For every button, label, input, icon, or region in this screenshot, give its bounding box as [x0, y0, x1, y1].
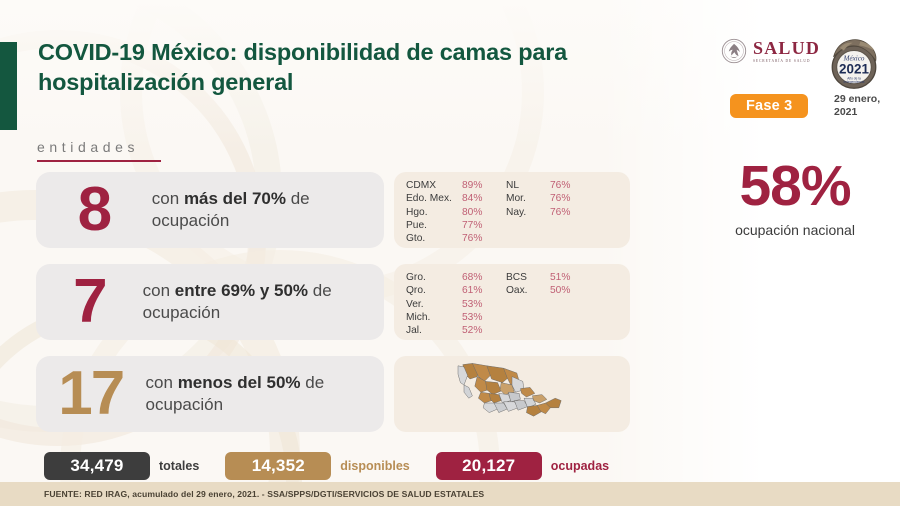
- stat-card-over-70: 8 con más del 70% de ocupación: [36, 172, 384, 248]
- occupied-beds-group: 20,127 ocupadas: [436, 452, 609, 480]
- svg-text:2021: 2021: [839, 62, 869, 77]
- state-row: Qro.61%: [406, 284, 496, 297]
- date-label: 29 enero, 2021: [834, 93, 894, 119]
- state-pct: 61%: [462, 284, 496, 297]
- slide: COVID-19 México: disponibilidad de camas…: [0, 0, 900, 506]
- total-beds-group: 34,479 totales: [44, 452, 199, 480]
- state-pct: 89%: [462, 179, 496, 192]
- state-row: Ver.53%: [406, 298, 496, 311]
- state-pct: 50%: [550, 284, 584, 297]
- state-name: Mich.: [406, 311, 462, 324]
- stat-number: 17: [36, 363, 146, 425]
- state-name: Jal.: [406, 324, 462, 337]
- available-beds-value: 14,352: [225, 452, 331, 480]
- state-pct: 68%: [462, 271, 496, 284]
- state-name: NL: [506, 179, 550, 192]
- state-pct: 53%: [462, 311, 496, 324]
- brand-block: SALUD SECRETARÍA DE SALUD México 2021 Añ…: [716, 33, 888, 133]
- totals-bar: 34,479 totales 14,352 disponibles 20,127…: [44, 452, 635, 480]
- state-row: Hgo.80%: [406, 206, 496, 219]
- stat-text-bold: más del 70%: [184, 189, 286, 208]
- national-percent: 58%: [700, 158, 890, 215]
- phase-badge: Fase 3: [730, 94, 808, 118]
- state-column-primary: Gro.68% Qro.61% Ver.53% Mich.53% Jal.52%: [406, 271, 496, 337]
- stat-description: con entre 69% y 50% de ocupación: [143, 280, 384, 324]
- state-name: Ver.: [406, 298, 462, 311]
- map-panel: [394, 356, 630, 432]
- mexico-map-icon: [452, 361, 572, 427]
- state-name: Hgo.: [406, 206, 462, 219]
- stat-text-prefix: con: [146, 373, 178, 392]
- stat-card-under-50: 17 con menos del 50% de ocupación: [36, 356, 384, 432]
- state-list-50-to-69: Gro.68% Qro.61% Ver.53% Mich.53% Jal.52%…: [394, 264, 630, 340]
- state-pct: 51%: [550, 271, 584, 284]
- occupied-beds-label: ocupadas: [551, 459, 609, 473]
- state-row: Pue.77%: [406, 219, 496, 232]
- mexico-2021-seal-icon: México 2021 Año de la Independencia: [822, 31, 886, 93]
- state-name: Edo. Mex.: [406, 192, 462, 205]
- state-name: Pue.: [406, 219, 462, 232]
- state-row: NL76%: [506, 179, 584, 192]
- state-pct: 80%: [462, 206, 496, 219]
- state-row: Mor.76%: [506, 192, 584, 205]
- stat-description: con menos del 50% de ocupación: [146, 372, 384, 416]
- section-label-text: entidades: [37, 139, 161, 160]
- state-pct: 53%: [462, 298, 496, 311]
- state-name: BCS: [506, 271, 550, 284]
- state-list-over-70: CDMX89% Edo. Mex.84% Hgo.80% Pue.77% Gto…: [394, 172, 630, 248]
- state-pct: 76%: [550, 192, 584, 205]
- national-seal-icon: [721, 38, 747, 64]
- stat-number: 8: [36, 179, 152, 241]
- source-note: FUENTE: RED IRAG, acumulado del 29 enero…: [0, 489, 484, 499]
- available-beds-group: 14,352 disponibles: [225, 452, 409, 480]
- state-name: Mor.: [506, 192, 550, 205]
- svg-text:Independencia: Independencia: [844, 80, 865, 84]
- salud-logo: SALUD SECRETARÍA DE SALUD: [721, 38, 820, 64]
- state-name: Nay.: [506, 206, 550, 219]
- salud-subtitle: SECRETARÍA DE SALUD: [753, 60, 820, 64]
- state-row: Edo. Mex.84%: [406, 192, 496, 205]
- state-pct: 84%: [462, 192, 496, 205]
- state-row: Jal.52%: [406, 324, 496, 337]
- state-pct: 76%: [550, 206, 584, 219]
- state-column-primary: CDMX89% Edo. Mex.84% Hgo.80% Pue.77% Gto…: [406, 179, 496, 245]
- mexico-map-wrapper: [394, 356, 630, 432]
- state-row: Nay.76%: [506, 206, 584, 219]
- salud-word: SALUD: [753, 39, 820, 57]
- state-pct: 76%: [550, 179, 584, 192]
- state-column-secondary: NL76% Mor.76% Nay.76%: [506, 179, 584, 245]
- national-caption: ocupación nacional: [700, 222, 890, 238]
- state-row: Oax.50%: [506, 284, 584, 297]
- state-name: Gro.: [406, 271, 462, 284]
- stat-text-bold: entre 69% y 50%: [175, 281, 308, 300]
- state-row: Gro.68%: [406, 271, 496, 284]
- stat-description: con más del 70% de ocupación: [152, 188, 384, 232]
- footer-bar: FUENTE: RED IRAG, acumulado del 29 enero…: [0, 482, 900, 506]
- state-pct: 52%: [462, 324, 496, 337]
- state-row: CDMX89%: [406, 179, 496, 192]
- state-row: Gto.76%: [406, 232, 496, 245]
- state-pct: 77%: [462, 219, 496, 232]
- state-name: Qro.: [406, 284, 462, 297]
- stat-card-50-to-69: 7 con entre 69% y 50% de ocupación: [36, 264, 384, 340]
- stat-text-bold: menos del 50%: [178, 373, 301, 392]
- occupied-beds-value: 20,127: [436, 452, 542, 480]
- state-name: Gto.: [406, 232, 462, 245]
- stat-text-prefix: con: [143, 281, 175, 300]
- section-label: entidades: [37, 139, 161, 162]
- total-beds-label: totales: [159, 459, 199, 473]
- state-name: Oax.: [506, 284, 550, 297]
- stat-number: 7: [36, 271, 143, 333]
- page-title: COVID-19 México: disponibilidad de camas…: [38, 38, 598, 97]
- section-label-underline: [37, 160, 161, 162]
- state-row: Mich.53%: [406, 311, 496, 324]
- state-name: CDMX: [406, 179, 462, 192]
- total-beds-value: 34,479: [44, 452, 150, 480]
- national-occupancy: 58% ocupación nacional: [700, 158, 890, 238]
- accent-bar: [0, 42, 17, 130]
- state-pct: 76%: [462, 232, 496, 245]
- available-beds-label: disponibles: [340, 459, 409, 473]
- salud-wordmark: SALUD SECRETARÍA DE SALUD: [753, 39, 820, 64]
- state-row: BCS51%: [506, 271, 584, 284]
- stat-text-prefix: con: [152, 189, 184, 208]
- state-column-secondary: BCS51% Oax.50%: [506, 271, 584, 337]
